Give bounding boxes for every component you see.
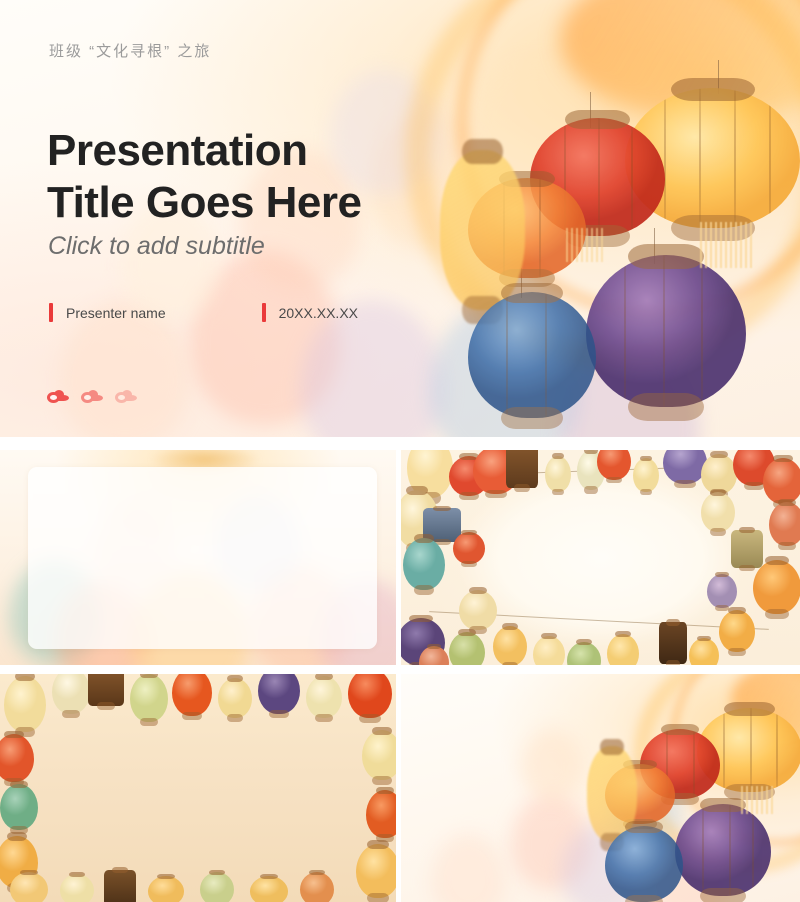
agenda-content-card — [28, 467, 377, 649]
agenda-slide[interactable]: CONTENTS Agenda 1. Subtitle here 2. ... … — [0, 450, 396, 665]
blank-content-slide[interactable]: Click to add title — [0, 674, 396, 902]
blank-slide-artwork — [0, 674, 396, 902]
auspicious-cloud-icon — [115, 390, 137, 403]
title-slide[interactable]: 班级 “文化寻根” 之旅 Presentation Title Goes Her… — [0, 0, 800, 437]
thank-you-artwork — [401, 674, 800, 902]
date-field[interactable]: 20XX.XX.XX — [262, 303, 358, 322]
title-line-1: Presentation — [47, 125, 477, 177]
title-line-2: Title Goes Here — [47, 177, 477, 229]
thank-you-slide[interactable]: 班级 “文化寻根” 之旅 Thank you Click to add subt… — [401, 674, 800, 902]
presenter-label: Presenter name — [66, 305, 166, 321]
accent-bar-icon — [49, 303, 53, 322]
slide-deck-preview: 班级 “文化寻根” 之旅 Presentation Title Goes Her… — [0, 0, 800, 902]
date-label: 20XX.XX.XX — [279, 305, 358, 321]
title-slide-meta: Presenter name 20XX.XX.XX — [49, 303, 358, 322]
title-slide-header: 班级 “文化寻根” 之旅 — [49, 40, 211, 61]
lantern-frame-artwork — [401, 450, 800, 665]
lantern-frame-slide[interactable]: Click to add title Click to add text — [401, 450, 800, 665]
cloud-decoration-group — [47, 390, 137, 403]
accent-bar-icon — [262, 303, 266, 322]
presenter-field[interactable]: Presenter name — [49, 303, 166, 322]
auspicious-cloud-icon — [47, 390, 69, 403]
auspicious-cloud-icon — [81, 390, 103, 403]
page-title[interactable]: Presentation Title Goes Here — [47, 125, 477, 229]
title-slide-subtitle[interactable]: Click to add subtitle — [48, 232, 265, 261]
